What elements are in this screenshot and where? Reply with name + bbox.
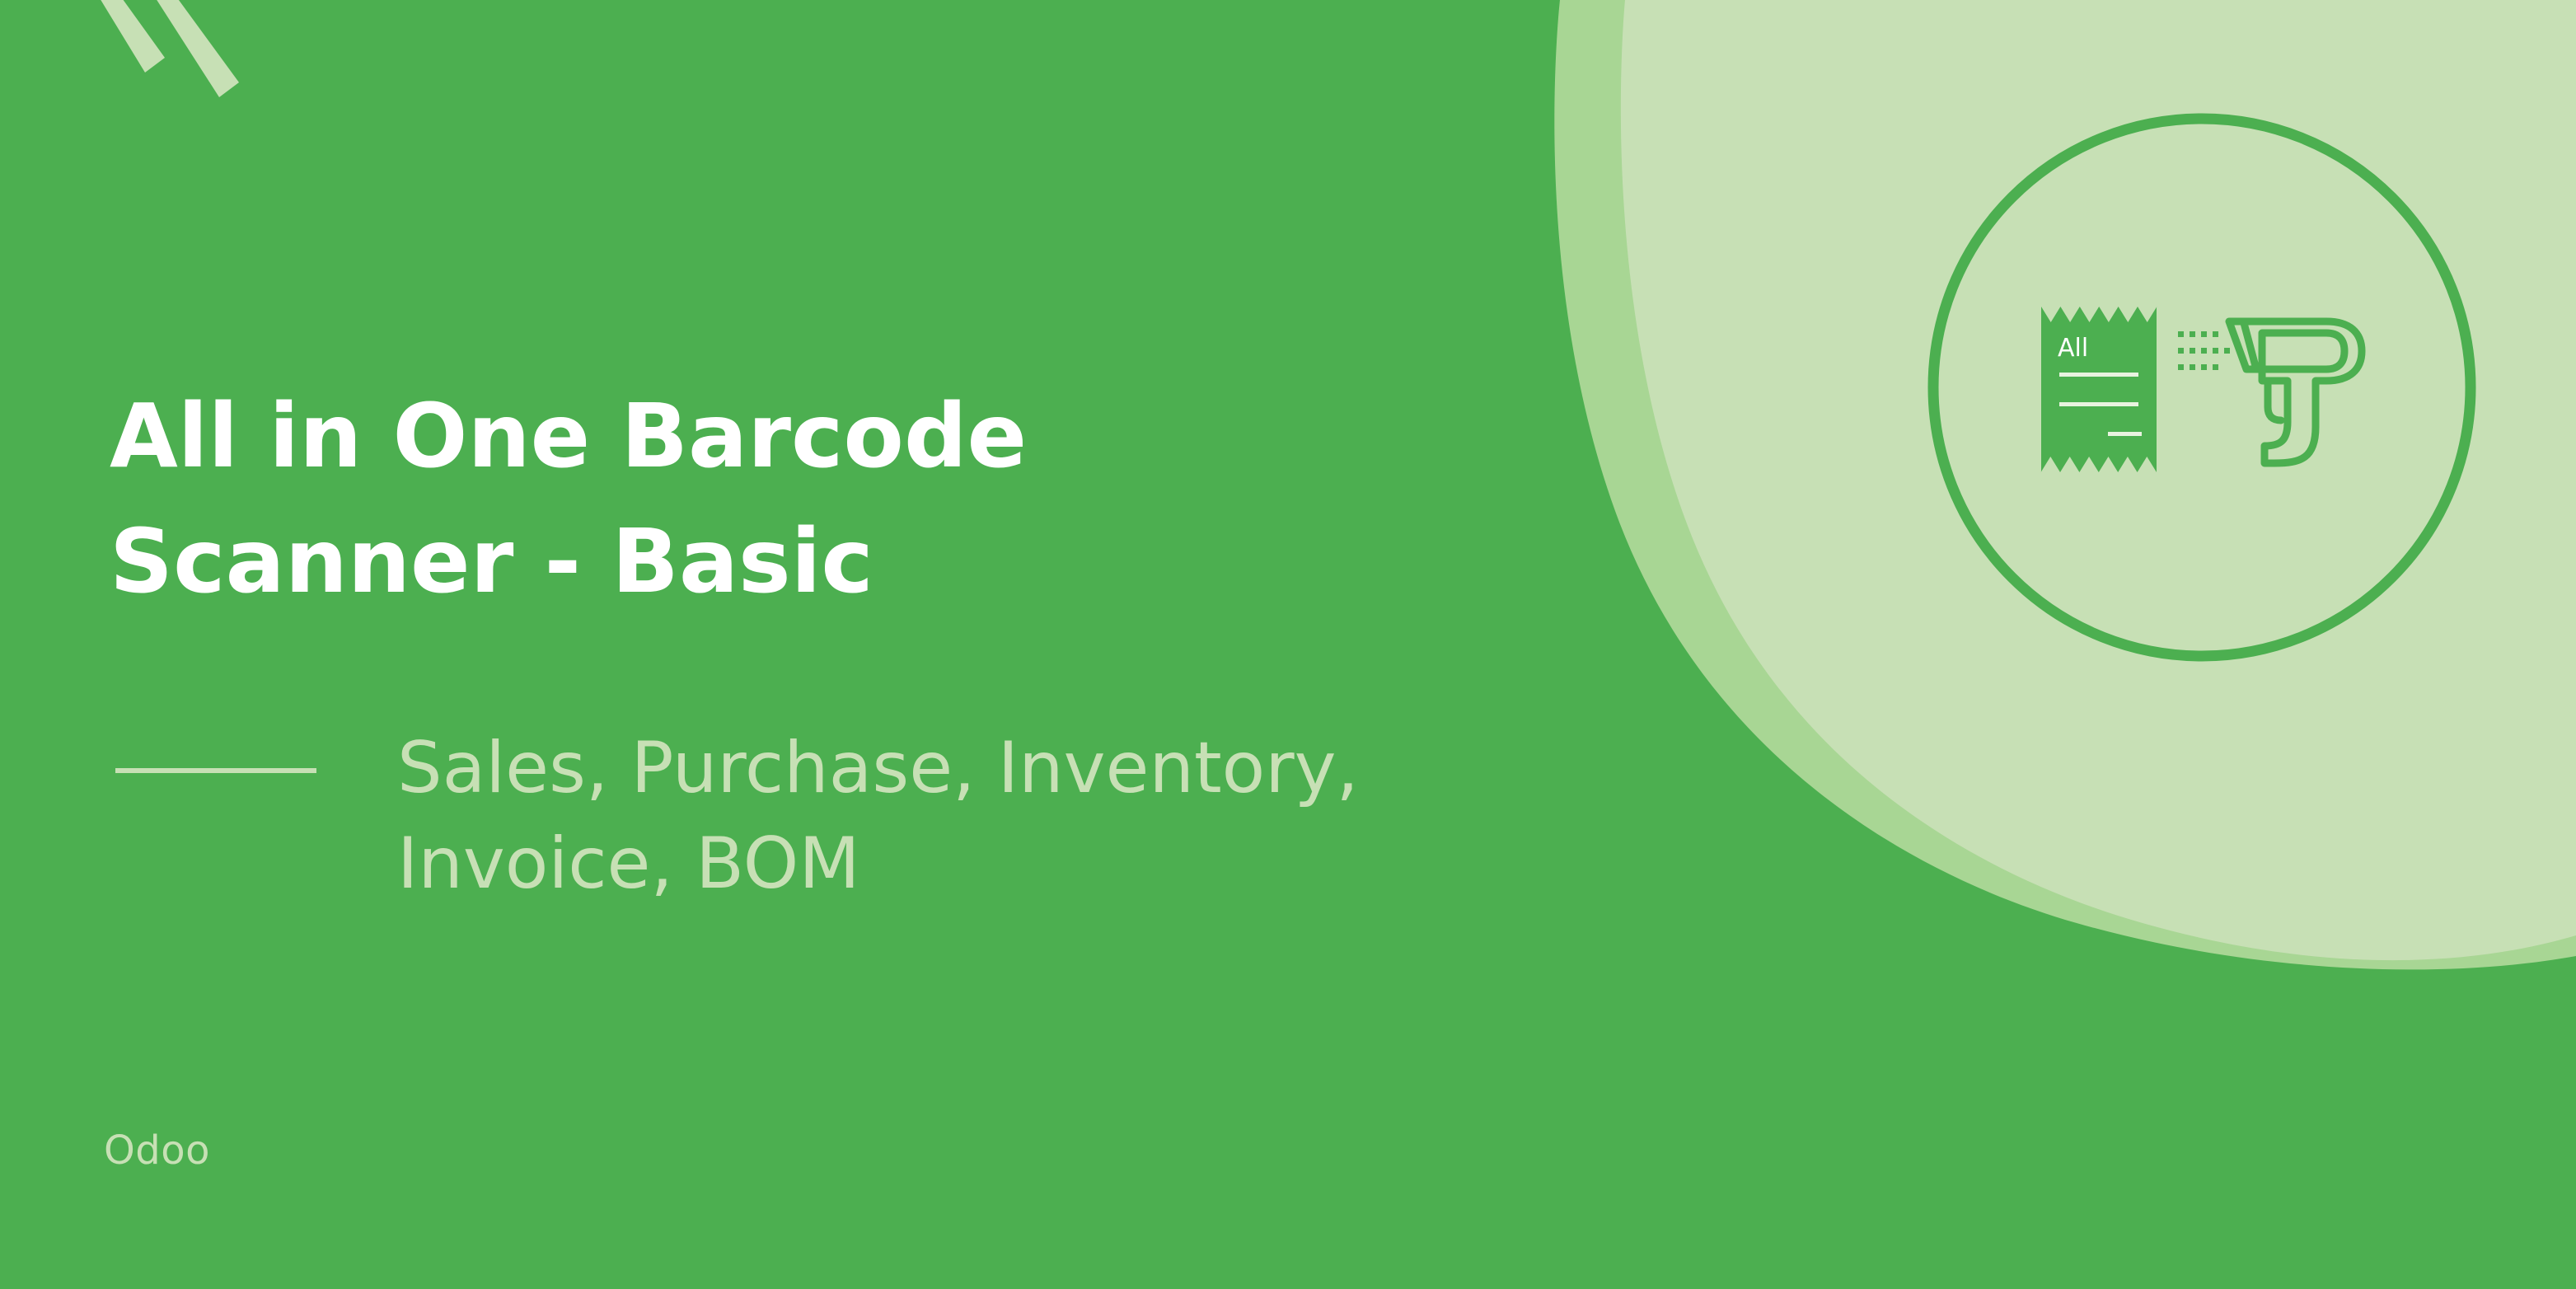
receipt-line-1: [2059, 373, 2138, 377]
promo-banner: All All in: [0, 0, 2576, 1289]
subtitle: Sales, Purchase, Inventory, Invoice, BOM: [397, 720, 1359, 912]
subtitle-row: Sales, Purchase, Inventory, Invoice, BOM: [115, 725, 1763, 912]
receipt-all-label: All: [2058, 334, 2088, 363]
receipt-icon: [2041, 307, 2157, 472]
stripe-left-icon: [86, 0, 165, 73]
background-shapes: All: [0, 0, 2576, 1289]
receipt-line-3: [2108, 432, 2142, 436]
page-title: All in One Barcode Scanner - Basic: [110, 375, 1346, 626]
brand-label: Odoo: [104, 1127, 210, 1174]
receipt-line-2: [2059, 402, 2138, 406]
diagonal-stripes-decoration: [86, 0, 239, 97]
divider-dash: [115, 768, 316, 773]
